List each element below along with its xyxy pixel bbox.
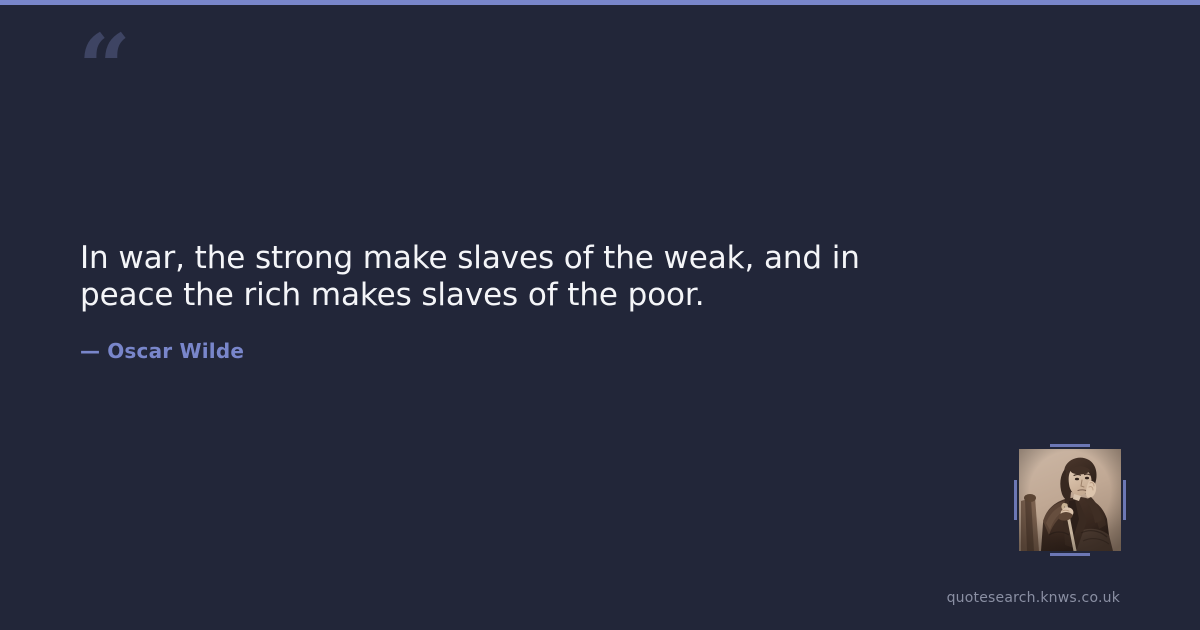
attribution-author: Oscar Wilde <box>107 339 244 363</box>
author-portrait <box>1019 449 1121 551</box>
portrait-frame-top-icon <box>1050 444 1090 447</box>
quote-attribution: —Oscar Wilde <box>80 339 244 363</box>
portrait-frame-bottom-icon <box>1050 553 1090 556</box>
quote-line-1: In war, the strong make slaves of the we… <box>80 240 860 276</box>
open-quote-icon: “ <box>78 22 129 114</box>
attribution-dash-icon: — <box>80 339 100 363</box>
top-accent-bar <box>0 0 1200 5</box>
quote-card: “ In war, the strong make slaves of the … <box>0 0 1200 630</box>
quote-line-2: peace the rich makes slaves of the poor. <box>80 277 704 313</box>
site-watermark: quotesearch.knws.co.uk <box>947 590 1120 606</box>
portrait-frame-right-icon <box>1123 480 1126 520</box>
portrait-frame-left-icon <box>1014 480 1017 520</box>
portrait-container <box>1019 449 1121 551</box>
quote-text: In war, the strong make slaves of the we… <box>80 240 960 313</box>
